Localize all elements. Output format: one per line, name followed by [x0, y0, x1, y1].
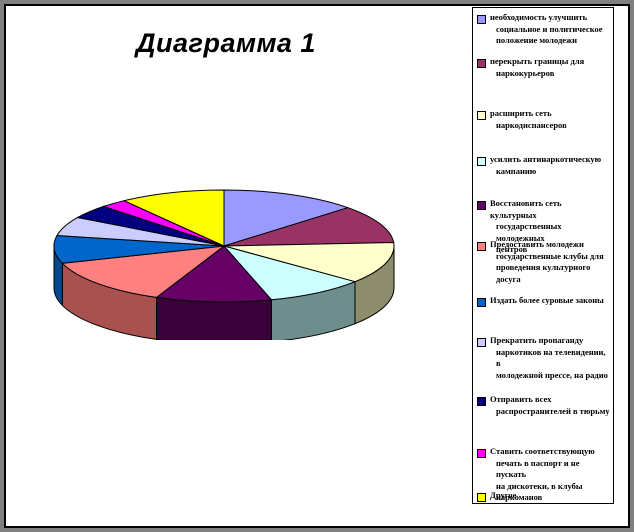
legend-item[interactable]: Другое	[477, 490, 610, 502]
legend-item-label: необходимость улучшитьсоциальное и полит…	[490, 12, 603, 47]
legend-swatch-icon	[477, 449, 486, 458]
legend-swatch-icon	[477, 59, 486, 68]
legend-label-line: Предоставить молодежи	[490, 239, 604, 251]
legend-swatch-icon	[477, 242, 486, 251]
pie-chart-3d[interactable]	[30, 184, 450, 340]
legend-label-line: распространителей в тюрьму	[490, 406, 610, 418]
legend-item-label: Издать более суровые законы	[490, 295, 604, 307]
legend-label-line: досуга	[490, 274, 604, 286]
legend[interactable]: необходимость улучшитьсоциальное и полит…	[472, 7, 614, 504]
legend-item[interactable]: усилить антинаркотическуюкампанию	[477, 154, 610, 177]
legend-swatch-icon	[477, 493, 486, 502]
legend-label-line: Отправить всех	[490, 394, 610, 406]
legend-swatch-icon	[477, 338, 486, 347]
legend-label-line: перекрыть границы для	[490, 56, 584, 68]
legend-label-line: государственные клубы для	[490, 251, 604, 263]
page-title: Диаграмма 1	[6, 28, 446, 59]
legend-item[interactable]: перекрыть границы длянаркокурьеров	[477, 56, 610, 79]
legend-label-line: Другое	[490, 490, 516, 502]
legend-item-label: Предоставить молодежигосударственные клу…	[490, 239, 604, 285]
legend-swatch-icon	[477, 397, 486, 406]
pie-svg	[30, 184, 450, 340]
legend-item[interactable]: Отправить всехраспространителей в тюрьму	[477, 394, 610, 417]
chart-window: Диаграмма 1 необходимость улучшитьсоциал…	[0, 0, 634, 532]
legend-item[interactable]: Прекратить пропагандунаркотиков на телев…	[477, 335, 610, 381]
legend-item[interactable]: Издать более суровые законы	[477, 295, 610, 307]
legend-swatch-icon	[477, 157, 486, 166]
legend-label-line: расширить сеть	[490, 108, 567, 120]
legend-item-label: усилить антинаркотическуюкампанию	[490, 154, 601, 177]
legend-label-line: молодежной прессе, на радио	[490, 370, 610, 382]
legend-label-line: кампанию	[490, 166, 601, 178]
legend-label-line: проведения культурного	[490, 262, 604, 274]
legend-label-line: Ставить соответствующую	[490, 446, 610, 458]
legend-label-line: наркокурьеров	[490, 68, 584, 80]
legend-item[interactable]: расширить сетьнаркодиспансеров	[477, 108, 610, 131]
legend-label-line: Прекратить пропаганду	[490, 335, 610, 347]
legend-label-line: Издать более суровые законы	[490, 295, 604, 307]
legend-label-line: социальное и политическое	[490, 24, 603, 36]
legend-item-label: Отправить всехраспространителей в тюрьму	[490, 394, 610, 417]
legend-label-line: наркодиспансеров	[490, 120, 567, 132]
legend-item[interactable]: Предоставить молодежигосударственные клу…	[477, 239, 610, 285]
legend-label-line: наркотиков на телевидении, в	[490, 347, 610, 370]
legend-item[interactable]: необходимость улучшитьсоциальное и полит…	[477, 12, 610, 47]
legend-swatch-icon	[477, 111, 486, 120]
legend-item-label: перекрыть границы длянаркокурьеров	[490, 56, 584, 79]
legend-label-line: положение молодежи	[490, 35, 603, 47]
legend-items-container: необходимость улучшитьсоциальное и полит…	[473, 8, 613, 503]
legend-item-label: расширить сетьнаркодиспансеров	[490, 108, 567, 131]
legend-label-line: Восстановить сеть культурных	[490, 198, 610, 221]
legend-swatch-icon	[477, 201, 486, 210]
chart-frame: Диаграмма 1 необходимость улучшитьсоциал…	[4, 4, 630, 528]
legend-label-line: печать в паспорт и не пускать	[490, 458, 610, 481]
legend-label-line: усилить антинаркотическую	[490, 154, 601, 166]
legend-item-label: Прекратить пропагандунаркотиков на телев…	[490, 335, 610, 381]
legend-swatch-icon	[477, 298, 486, 307]
pie-slice-side-5[interactable]	[156, 297, 271, 340]
legend-label-line: необходимость улучшить	[490, 12, 603, 24]
legend-item-label: Другое	[490, 490, 516, 502]
legend-swatch-icon	[477, 15, 486, 24]
plot-area[interactable]: Диаграмма 1	[6, 6, 470, 526]
